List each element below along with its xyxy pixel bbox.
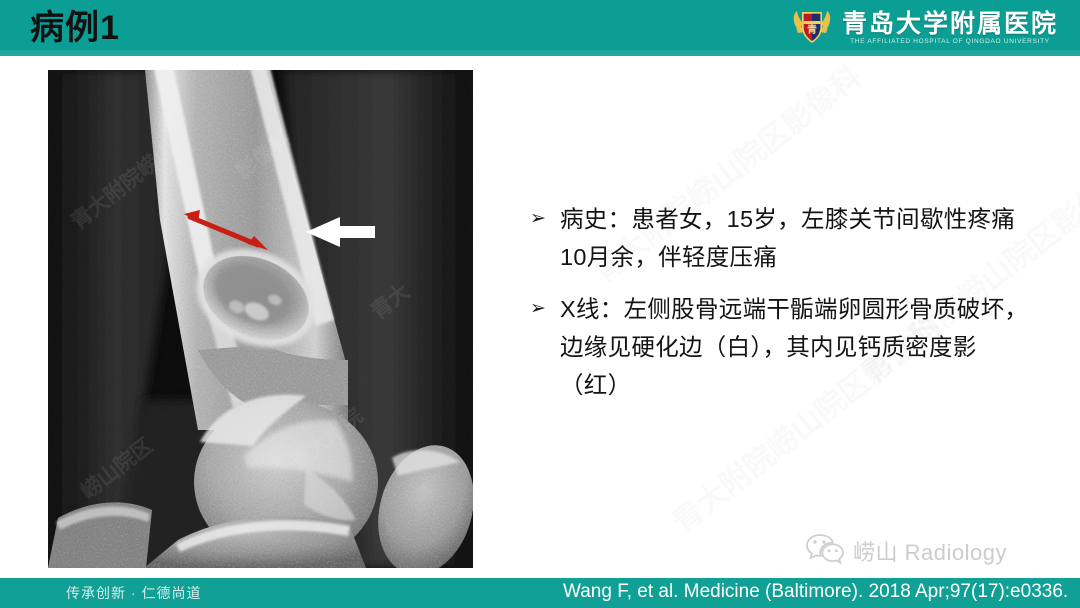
bullet-arrow-icon: ➢ [530, 290, 560, 328]
list-item: ➢ X线：左侧股骨远端干骺端卵圆形骨质破坏，边缘见硬化边（白），其内见钙质密度影… [530, 290, 1030, 404]
bullet-arrow-icon: ➢ [530, 200, 560, 238]
wechat-brand: 崂山 Radiology [806, 532, 1007, 569]
hospital-name-cn: 青岛大学附属医院 [842, 11, 1058, 36]
wechat-account-name: 崂山 Radiology [853, 535, 1007, 567]
xray-findings-text: X线：左侧股骨远端干骺端卵圆形骨质破坏，边缘见硬化边（白），其内见钙质密度影（红… [560, 290, 1030, 404]
clinical-summary: ➢ 病史：患者女，15岁，左膝关节间歇性疼痛10月余，伴轻度压痛 ➢ X线：左侧… [530, 200, 1030, 418]
footer-slogan: 传承创新 · 仁德尚道 [66, 583, 201, 603]
list-item: ➢ 病史：患者女，15岁，左膝关节间歇性疼痛10月余，伴轻度压痛 [530, 200, 1030, 276]
wechat-icon [806, 532, 844, 569]
xray-image: 青大附院崂山 影像科 青大附院 崂山院区 青大 [48, 70, 473, 568]
hospital-name-en: THE AFFILIATED HOSPITAL OF QINGDAO UNIVE… [850, 39, 1050, 46]
svg-text:青: 青 [807, 23, 817, 36]
hospital-logo: 青 青岛大学附属医院 THE AFFILIATED HOSPITAL OF QI… [790, 4, 1058, 52]
hospital-crest-icon: 青 [790, 5, 834, 52]
hospital-wordmark: 青岛大学附属医院 THE AFFILIATED HOSPITAL OF QING… [842, 11, 1058, 46]
history-text: 病史：患者女，15岁，左膝关节间歇性疼痛10月余，伴轻度压痛 [560, 200, 1030, 276]
footer-citation: Wang F, et al. Medicine (Baltimore). 201… [563, 581, 1068, 603]
page-title: 病例1 [30, 6, 120, 50]
